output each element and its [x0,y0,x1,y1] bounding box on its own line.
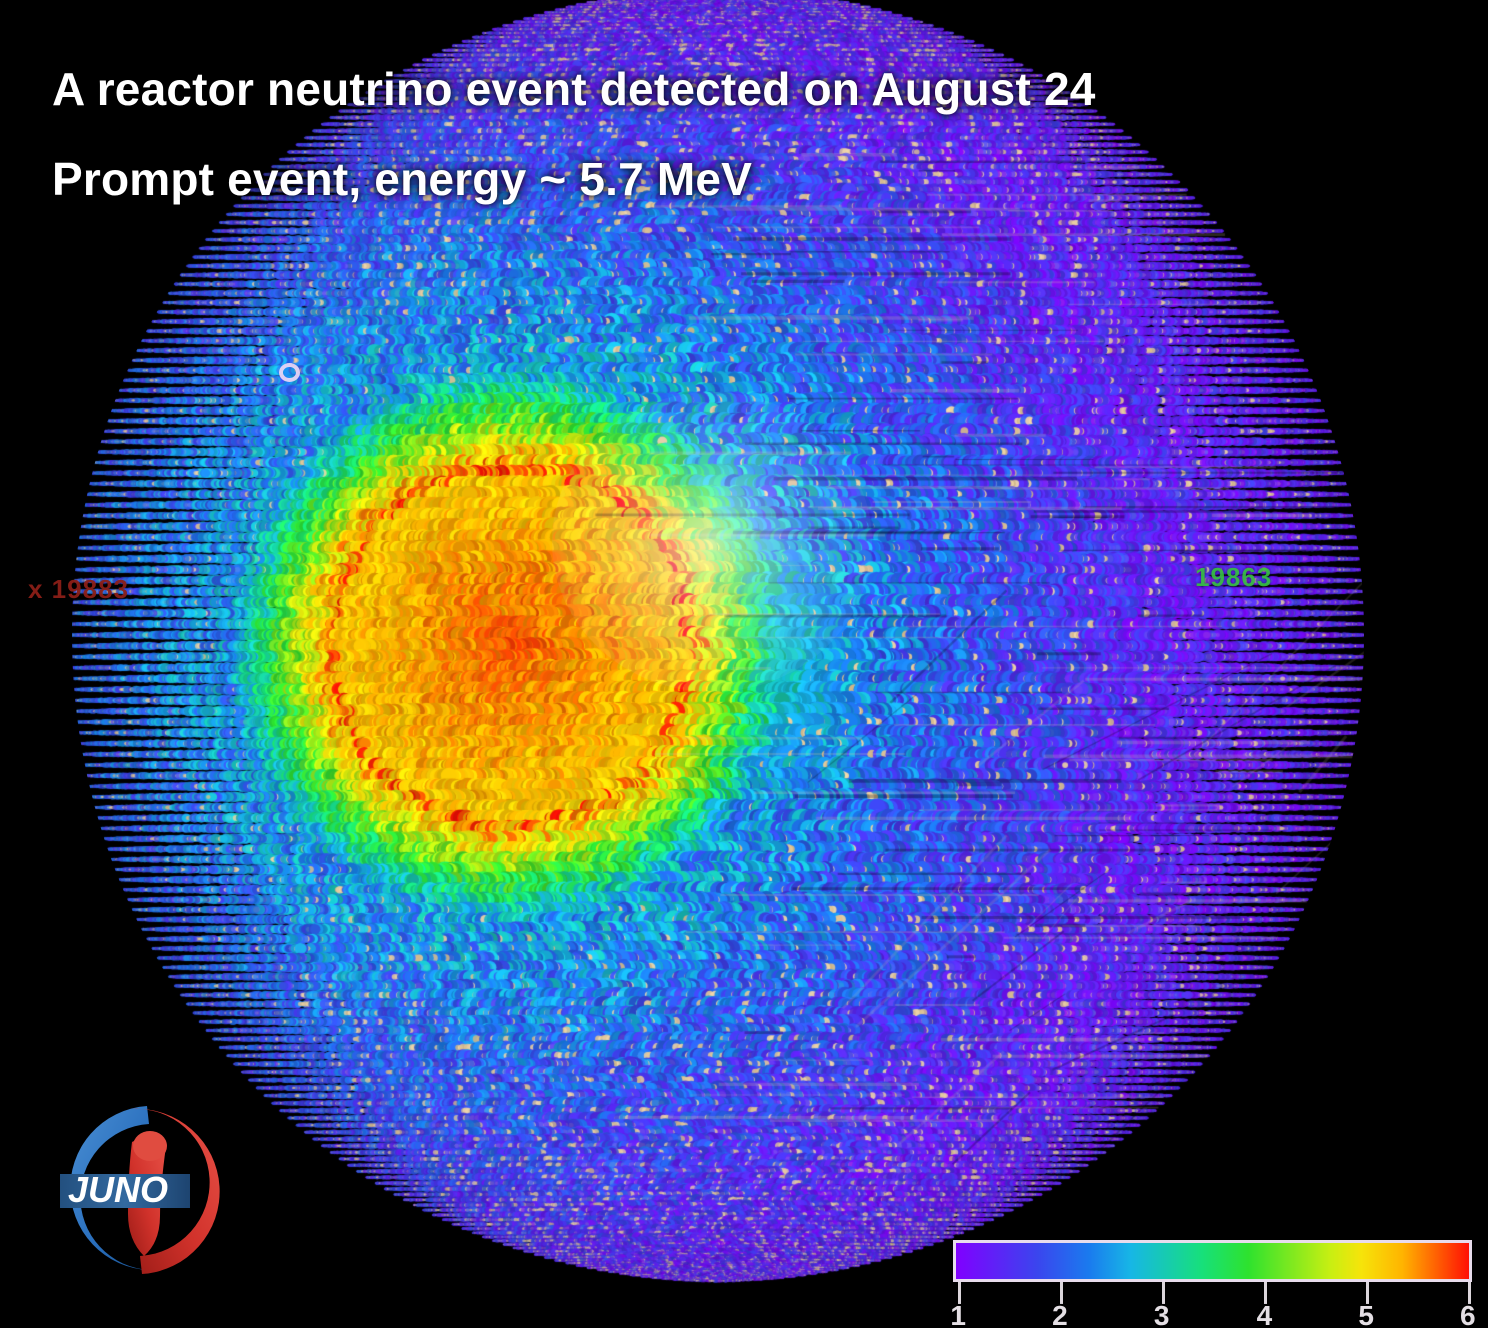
colorbar-tick-label: 6 [1460,1300,1476,1328]
axis-label-left: x 19883 [28,574,129,605]
colorbar-tick-label: 3 [1154,1300,1170,1328]
page-title: A reactor neutrino event detected on Aug… [52,62,1096,116]
axis-label-right: 19863 [1195,562,1272,593]
colorbar-tick-label: 1 [950,1300,966,1328]
juno-logo-text: JUNO [68,1169,168,1210]
colorbar-tick-label: 2 [1052,1300,1068,1328]
page-subtitle: Prompt event, energy ~ 5.7 MeV [52,152,752,206]
colorbar: 123456 [953,1240,1472,1282]
highlighted-pmt-marker [279,363,300,382]
event-display-page: A reactor neutrino event detected on Aug… [0,0,1488,1328]
colorbar-tick-label: 4 [1257,1300,1273,1328]
colorbar-tick-label: 5 [1358,1300,1374,1328]
juno-logo: JUNO [54,1098,234,1283]
juno-logo-icon: JUNO [54,1098,234,1283]
colorbar-gradient [953,1240,1472,1282]
